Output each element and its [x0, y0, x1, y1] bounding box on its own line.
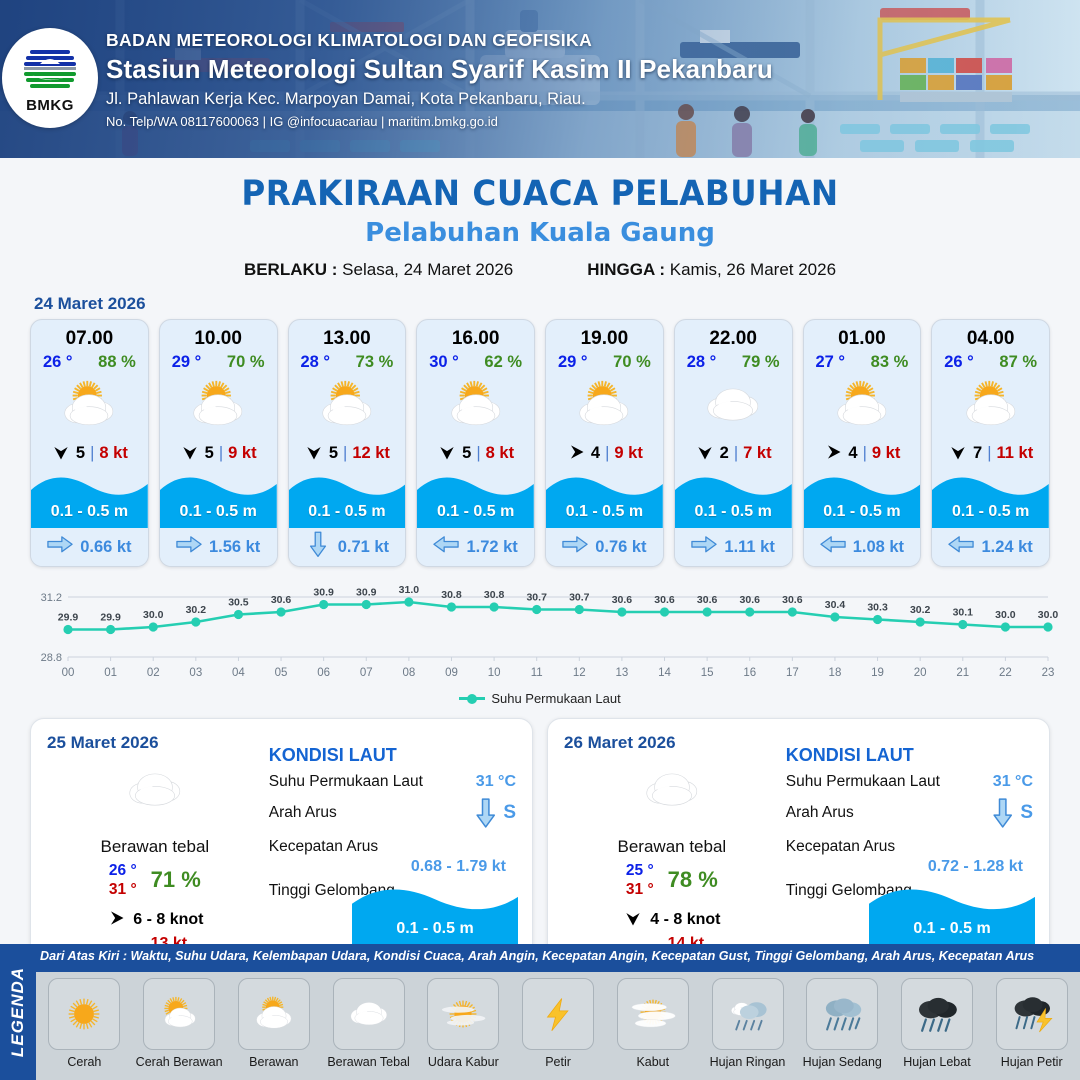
card-weather-icon	[804, 374, 921, 436]
card-wind-direction	[695, 442, 715, 465]
panel-wind: 6 - 8 knot	[47, 908, 263, 933]
svg-text:18: 18	[829, 667, 842, 679]
valid-to-label: HINGGA :	[587, 260, 665, 279]
svg-text:04: 04	[232, 667, 245, 679]
card-wind-direction	[823, 442, 843, 465]
partly-cloudy-icon	[304, 376, 390, 434]
title-section: PRAKIRAAN CUACA PELABUHAN Pelabuhan Kual…	[0, 158, 1080, 280]
daily-panels: 25 Maret 2026 Berawan tebal 26 ° 31 ° 71…	[0, 706, 1080, 958]
card-current-speed: 1.24 kt	[981, 538, 1032, 557]
svg-text:05: 05	[275, 667, 288, 679]
svg-text:12: 12	[573, 667, 586, 679]
svg-text:03: 03	[189, 667, 202, 679]
forecast-card: 13.00 28 ° 73 % 5 | 12 kt 0.1 - 0.5 m 0.…	[288, 319, 407, 567]
wind-direction-arrow	[51, 442, 71, 462]
svg-text:11: 11	[531, 667, 543, 679]
panel-sst-value: 31 °C	[993, 773, 1033, 791]
svg-text:08: 08	[402, 667, 415, 679]
panel-condition: Berawan tebal	[564, 837, 780, 857]
sun-cloud-icon	[148, 987, 210, 1041]
card-wind-direction	[304, 442, 324, 465]
card-divider: |	[863, 444, 867, 463]
panel-current-dir-letter: S	[1020, 802, 1033, 824]
panel-current-speed-value: 0.72 - 1.28 kt	[786, 858, 1033, 876]
card-humidity: 88 %	[98, 353, 136, 372]
card-temp-hum: 26 ° 87 %	[932, 351, 1049, 372]
card-current-speed: 0.71 kt	[338, 538, 389, 557]
panel-current-dir-label: Arah Arus	[786, 804, 854, 822]
legend-item-label: Berawan Tebal	[327, 1055, 409, 1069]
card-temperature: 28 °	[301, 353, 331, 372]
legend-item: Hujan Lebat	[891, 978, 984, 1069]
card-weather-icon	[932, 374, 1049, 436]
card-time: 01.00	[804, 320, 921, 351]
svg-text:07: 07	[360, 667, 373, 679]
partly-cloudy-icon	[433, 376, 519, 434]
legend-note: Dari Atas Kiri : Waktu, Suhu Udara, Kele…	[40, 949, 1076, 963]
card-wave: 0.1 - 0.5 m	[546, 470, 663, 528]
panel-wind-range: 6 - 8 knot	[133, 911, 203, 929]
svg-text:29.9: 29.9	[100, 612, 121, 624]
svg-text:23: 23	[1042, 667, 1055, 679]
panel-current-dir-row: Arah Arus S	[269, 798, 516, 828]
svg-text:06: 06	[317, 667, 330, 679]
current-direction-arrow	[691, 535, 717, 554]
card-current-speed: 1.08 kt	[853, 538, 904, 557]
cloudy-icon	[112, 761, 198, 819]
panel-date: 26 Maret 2026	[564, 733, 780, 753]
card-time: 04.00	[932, 320, 1049, 351]
svg-text:30.6: 30.6	[697, 594, 718, 606]
partly-cloudy-icon	[46, 376, 132, 434]
card-temperature: 30 °	[429, 353, 459, 372]
panel-sst-value: 31 °C	[476, 773, 516, 791]
daily-panel: 25 Maret 2026 Berawan tebal 26 ° 31 ° 71…	[30, 718, 533, 958]
legend-item-label: Petir	[545, 1055, 571, 1069]
card-wind-speed: 5	[205, 444, 214, 463]
panel-sst-label: Suhu Permukaan Laut	[269, 773, 423, 791]
card-time: 19.00	[546, 320, 663, 351]
card-divider: |	[343, 444, 347, 463]
card-divider: |	[476, 444, 480, 463]
legend-item: Udara Kabur	[417, 978, 510, 1069]
card-current: 1.11 kt	[675, 528, 792, 566]
card-time: 07.00	[31, 320, 148, 351]
card-gust: 9 kt	[872, 444, 900, 463]
forecast-card: 01.00 27 ° 83 % 4 | 9 kt 0.1 - 0.5 m 1.0…	[803, 319, 922, 567]
svg-text:09: 09	[445, 667, 458, 679]
card-wind-speed: 5	[76, 444, 85, 463]
forecast-card: 04.00 26 ° 87 % 7 | 11 kt 0.1 - 0.5 m 1.…	[931, 319, 1050, 567]
panel-temp-range: 26 ° 31 °	[109, 861, 137, 900]
panel-current-dir-value: S	[992, 798, 1033, 828]
chart-legend: Suhu Permukaan Laut	[0, 691, 1080, 706]
wind-direction-arrow	[948, 442, 968, 462]
panel-date: 25 Maret 2026	[47, 733, 263, 753]
haze-icon	[432, 987, 494, 1041]
svg-text:30.0: 30.0	[995, 609, 1016, 621]
valid-to-value: Kamis, 26 Maret 2026	[670, 260, 836, 279]
current-direction-arrow	[948, 535, 974, 554]
card-temperature: 28 °	[687, 353, 717, 372]
valid-to: HINGGA : Kamis, 26 Maret 2026	[587, 260, 836, 280]
card-wind-speed: 4	[848, 444, 857, 463]
legend-item-label: Kabut	[636, 1055, 669, 1069]
card-wave: 0.1 - 0.5 m	[31, 470, 148, 528]
card-gust: 9 kt	[228, 444, 256, 463]
panel-humidity: 71 %	[151, 867, 201, 893]
card-current-direction	[948, 535, 974, 559]
svg-text:28.8: 28.8	[41, 652, 62, 664]
legend-item-icon	[48, 978, 120, 1050]
page-header: BMKG BADAN METEOROLOGI KLIMATOLOGI DAN G…	[0, 0, 1080, 158]
card-current-direction	[176, 535, 202, 559]
svg-text:22: 22	[999, 667, 1012, 679]
card-humidity: 83 %	[871, 353, 909, 372]
card-gust: 8 kt	[486, 444, 514, 463]
agency-name: BADAN METEOROLOGI KLIMATOLOGI DAN GEOFIS…	[106, 30, 773, 51]
svg-text:30.0: 30.0	[1038, 609, 1059, 621]
heavy-rain-icon	[906, 987, 968, 1041]
current-direction-arrow	[475, 798, 496, 828]
card-current-direction	[820, 535, 846, 559]
panel-right: KONDISI LAUT Suhu Permukaan Laut 31 °C A…	[263, 733, 516, 943]
card-current: 1.08 kt	[804, 528, 921, 566]
panel-current-dir-letter: S	[503, 802, 516, 824]
legend-strip: LEGENDA Dari Atas Kiri : Waktu, Suhu Uda…	[0, 944, 1080, 1080]
card-humidity: 70 %	[227, 353, 265, 372]
panel-current-speed-row: Kecepatan Arus	[269, 838, 516, 856]
panel-current-dir-row: Arah Arus S	[786, 798, 1033, 828]
card-temp-hum: 27 ° 83 %	[804, 351, 921, 372]
legend-item-label: Cerah Berawan	[136, 1055, 223, 1069]
card-wind-direction	[437, 442, 457, 465]
cloudy-icon	[629, 761, 715, 819]
card-wave-height: 0.1 - 0.5 m	[417, 503, 534, 521]
legend-item-icon	[617, 978, 689, 1050]
panel-left: 25 Maret 2026 Berawan tebal 26 ° 31 ° 71…	[47, 733, 263, 943]
panel-right: KONDISI LAUT Suhu Permukaan Laut 31 °C A…	[780, 733, 1033, 943]
legend-item-icon	[427, 978, 499, 1050]
card-wind-direction	[51, 442, 71, 465]
forecast-card: 19.00 29 ° 70 % 4 | 9 kt 0.1 - 0.5 m 0.7…	[545, 319, 664, 567]
svg-text:16: 16	[743, 667, 756, 679]
fog-icon	[622, 987, 684, 1041]
card-wind: 7 | 11 kt	[932, 436, 1049, 470]
legend-item-label: Hujan Ringan	[710, 1055, 786, 1069]
partly-cloudy-icon	[175, 376, 261, 434]
page-title: PRAKIRAAN CUACA PELABUHAN	[38, 174, 1042, 214]
legend-item-label: Udara Kabur	[428, 1055, 499, 1069]
panel-current-dir-value: S	[475, 798, 516, 828]
panel-wind-direction	[623, 908, 643, 933]
valid-from-value: Selasa, 24 Maret 2026	[342, 260, 513, 279]
partly-cloudy-icon	[243, 987, 305, 1041]
svg-text:30.8: 30.8	[484, 589, 505, 601]
card-divider: |	[987, 444, 991, 463]
svg-text:30.2: 30.2	[186, 604, 207, 616]
svg-text:01: 01	[104, 667, 117, 679]
card-wave-height: 0.1 - 0.5 m	[289, 503, 406, 521]
legend-item-icon	[238, 978, 310, 1050]
card-gust: 12 kt	[352, 444, 390, 463]
card-current-direction	[433, 535, 459, 559]
daily-panel: 26 Maret 2026 Berawan tebal 25 ° 31 ° 78…	[547, 718, 1050, 958]
panel-temp-max: 31 °	[109, 880, 137, 899]
card-wave-height: 0.1 - 0.5 m	[804, 503, 921, 521]
wind-direction-arrow	[437, 442, 457, 462]
bmkg-logo-text: BMKG	[26, 97, 74, 114]
panel-sea-title: KONDISI LAUT	[269, 745, 516, 766]
legend-item: Petir	[512, 978, 605, 1069]
card-temperature: 29 °	[172, 353, 202, 372]
card-time: 10.00	[160, 320, 277, 351]
card-time: 13.00	[289, 320, 406, 351]
svg-text:30.5: 30.5	[228, 597, 249, 609]
thunderstorm-icon	[1001, 987, 1063, 1041]
legend-item: Hujan Ringan	[701, 978, 794, 1069]
legend-item-label: Hujan Lebat	[903, 1055, 970, 1069]
card-weather-icon	[31, 374, 148, 436]
current-direction-arrow	[47, 535, 73, 554]
card-current-direction	[305, 535, 331, 559]
svg-text:31.0: 31.0	[399, 584, 420, 596]
sunny-icon	[53, 987, 115, 1041]
card-weather-icon	[675, 374, 792, 436]
card-wind-speed: 5	[462, 444, 471, 463]
panel-temps: 26 ° 31 ° 71 %	[47, 861, 263, 900]
card-wave-height: 0.1 - 0.5 m	[932, 503, 1049, 521]
legend-item-label: Berawan	[249, 1055, 298, 1069]
station-name: Stasiun Meteorologi Sultan Syarif Kasim …	[106, 54, 773, 85]
card-humidity: 73 %	[356, 353, 394, 372]
card-time: 22.00	[675, 320, 792, 351]
legend-item: Cerah Berawan	[133, 978, 226, 1069]
panel-wind: 4 - 8 knot	[564, 908, 780, 933]
card-wind-speed: 5	[329, 444, 338, 463]
cloudy-icon	[338, 987, 400, 1041]
panel-wind-range: 4 - 8 knot	[650, 911, 720, 929]
valid-from-label: BERLAKU :	[244, 260, 338, 279]
svg-text:19: 19	[871, 667, 884, 679]
wind-direction-arrow	[304, 442, 324, 462]
current-direction-arrow	[308, 532, 327, 558]
forecast-card: 07.00 26 ° 88 % 5 | 8 kt 0.1 - 0.5 m 0.6…	[30, 319, 149, 567]
card-wave-height: 0.1 - 0.5 m	[31, 503, 148, 521]
panel-temp-max: 31 °	[626, 880, 654, 899]
legend-item-label: Hujan Sedang	[803, 1055, 882, 1069]
legend-item: Cerah	[38, 978, 131, 1069]
card-wind-direction	[566, 442, 586, 465]
panel-current-speed-label: Kecepatan Arus	[786, 838, 895, 856]
panel-current-speed-row: Kecepatan Arus	[786, 838, 1033, 856]
card-humidity: 62 %	[484, 353, 522, 372]
valid-from: BERLAKU : Selasa, 24 Maret 2026	[244, 260, 513, 280]
legend-item: Hujan Petir	[985, 978, 1078, 1069]
panel-wave-value: 0.1 - 0.5 m	[869, 920, 1035, 938]
wind-direction-arrow	[566, 442, 586, 462]
legend-item-icon	[333, 978, 405, 1050]
card-current-direction	[47, 535, 73, 559]
card-temp-hum: 28 ° 79 %	[675, 351, 792, 372]
card-wave-height: 0.1 - 0.5 m	[675, 503, 792, 521]
chart-legend-label: Suhu Permukaan Laut	[491, 691, 620, 706]
panel-left: 26 Maret 2026 Berawan tebal 25 ° 31 ° 78…	[564, 733, 780, 943]
card-weather-icon	[289, 374, 406, 436]
legend-side-title-text: LEGENDA	[8, 967, 28, 1057]
card-temp-hum: 26 ° 88 %	[31, 351, 148, 372]
svg-text:30.7: 30.7	[526, 592, 547, 604]
card-wave-height: 0.1 - 0.5 m	[160, 503, 277, 521]
card-temperature: 26 °	[43, 353, 73, 372]
cloudy-icon	[690, 376, 776, 434]
card-current: 1.72 kt	[417, 528, 534, 566]
wind-direction-arrow	[695, 442, 715, 462]
card-wind: 2 | 7 kt	[675, 436, 792, 470]
panel-wave-graphic: 0.1 - 0.5 m	[869, 881, 1035, 947]
card-wind-direction	[180, 442, 200, 465]
wind-direction-arrow	[623, 908, 643, 928]
card-wave: 0.1 - 0.5 m	[417, 470, 534, 528]
card-current-speed: 1.56 kt	[209, 538, 260, 557]
card-gust: 8 kt	[99, 444, 127, 463]
card-weather-icon	[160, 374, 277, 436]
card-current: 1.24 kt	[932, 528, 1049, 566]
legend-item-icon	[712, 978, 784, 1050]
card-humidity: 79 %	[742, 353, 780, 372]
svg-text:21: 21	[956, 667, 969, 679]
card-current: 0.66 kt	[31, 528, 148, 566]
card-current-speed: 0.76 kt	[595, 538, 646, 557]
card-wind: 5 | 9 kt	[160, 436, 277, 470]
card-current: 1.56 kt	[160, 528, 277, 566]
panel-sst-label: Suhu Permukaan Laut	[786, 773, 940, 791]
card-temp-hum: 30 ° 62 %	[417, 351, 534, 372]
card-divider: |	[90, 444, 94, 463]
panel-weather-icon	[564, 759, 780, 821]
current-direction-arrow	[176, 535, 202, 554]
partly-cloudy-icon	[948, 376, 1034, 434]
card-weather-icon	[417, 374, 534, 436]
svg-text:30.7: 30.7	[569, 592, 590, 604]
panel-current-dir-label: Arah Arus	[269, 804, 337, 822]
wind-direction-arrow	[180, 442, 200, 462]
card-wave: 0.1 - 0.5 m	[160, 470, 277, 528]
card-current-speed: 1.11 kt	[724, 538, 774, 557]
card-wave: 0.1 - 0.5 m	[289, 470, 406, 528]
svg-text:30.9: 30.9	[356, 587, 377, 599]
current-direction-arrow	[992, 798, 1013, 828]
card-wind-direction	[948, 442, 968, 465]
legend-item-icon	[143, 978, 215, 1050]
card-humidity: 70 %	[613, 353, 651, 372]
page-subtitle: Pelabuhan Kuala Gaung	[0, 218, 1080, 248]
card-wind: 4 | 9 kt	[804, 436, 921, 470]
wind-direction-arrow	[106, 908, 126, 928]
svg-text:31.2: 31.2	[41, 592, 62, 604]
forecast-day-label: 24 Maret 2026	[34, 294, 1080, 314]
station-contact: No. Telp/WA 08117600063 | IG @infocuacar…	[106, 114, 773, 129]
legend-item-icon	[901, 978, 973, 1050]
sst-chart: 31.228.829.90029.90130.00230.20330.50430…	[20, 579, 1060, 689]
forecast-card: 22.00 28 ° 79 % 2 | 7 kt 0.1 - 0.5 m 1.1…	[674, 319, 793, 567]
panel-weather-icon	[47, 759, 263, 821]
card-temperature: 26 °	[944, 353, 974, 372]
legend-item: Hujan Sedang	[796, 978, 889, 1069]
card-divider: |	[734, 444, 738, 463]
card-temperature: 29 °	[558, 353, 588, 372]
card-temp-hum: 29 ° 70 %	[546, 351, 663, 372]
card-wind: 4 | 9 kt	[546, 436, 663, 470]
panel-temp-min: 26 °	[109, 861, 137, 880]
panel-current-speed-label: Kecepatan Arus	[269, 838, 378, 856]
wind-direction-arrow	[823, 442, 843, 462]
panel-temp-min: 25 °	[626, 861, 654, 880]
partly-cloudy-icon	[561, 376, 647, 434]
panel-current-speed-value: 0.68 - 1.79 kt	[269, 858, 516, 876]
card-wind-speed: 7	[973, 444, 982, 463]
card-wind-speed: 4	[591, 444, 600, 463]
svg-text:30.4: 30.4	[825, 599, 846, 611]
legend-item-label: Cerah	[67, 1055, 101, 1069]
card-gust: 11 kt	[997, 444, 1034, 463]
card-time: 16.00	[417, 320, 534, 351]
card-current: 0.76 kt	[546, 528, 663, 566]
card-wave: 0.1 - 0.5 m	[932, 470, 1049, 528]
moderate-rain-icon	[811, 987, 873, 1041]
svg-text:30.9: 30.9	[313, 587, 334, 599]
card-temp-hum: 29 ° 70 %	[160, 351, 277, 372]
legend-item-label: Hujan Petir	[1001, 1055, 1063, 1069]
card-wind-speed: 2	[720, 444, 729, 463]
current-direction-arrow	[820, 535, 846, 554]
svg-text:02: 02	[147, 667, 160, 679]
svg-text:30.2: 30.2	[910, 604, 931, 616]
card-wind: 5 | 8 kt	[417, 436, 534, 470]
legend-item: Berawan Tebal	[322, 978, 415, 1069]
current-direction-arrow	[562, 535, 588, 554]
current-direction-arrow	[433, 535, 459, 554]
panel-wave-graphic: 0.1 - 0.5 m	[352, 881, 518, 947]
legend-item-icon	[806, 978, 878, 1050]
legend-icon-row: Cerah Cerah Berawan Berawan Berawan Teba…	[36, 972, 1080, 1080]
svg-text:30.6: 30.6	[782, 594, 803, 606]
panel-wind-direction	[106, 908, 126, 933]
header-text-block: BADAN METEOROLOGI KLIMATOLOGI DAN GEOFIS…	[106, 30, 773, 129]
card-wave: 0.1 - 0.5 m	[804, 470, 921, 528]
bmkg-logo-mark	[18, 42, 82, 96]
legend-item: Berawan	[227, 978, 320, 1069]
legend-item: Kabut	[606, 978, 699, 1069]
light-rain-icon	[717, 987, 779, 1041]
card-humidity: 87 %	[999, 353, 1037, 372]
panel-sea-title: KONDISI LAUT	[786, 745, 1033, 766]
svg-text:30.6: 30.6	[654, 594, 675, 606]
forecast-card-row: 07.00 26 ° 88 % 5 | 8 kt 0.1 - 0.5 m 0.6…	[0, 319, 1080, 567]
svg-text:29.9: 29.9	[58, 612, 79, 624]
svg-text:30.6: 30.6	[271, 594, 292, 606]
svg-text:14: 14	[658, 667, 671, 679]
panel-temps: 25 ° 31 ° 78 %	[564, 861, 780, 900]
card-current: 0.71 kt	[289, 528, 406, 566]
forecast-card: 16.00 30 ° 62 % 5 | 8 kt 0.1 - 0.5 m 1.7…	[416, 319, 535, 567]
svg-text:30.6: 30.6	[612, 594, 633, 606]
card-wind: 5 | 12 kt	[289, 436, 406, 470]
legend-side-title: LEGENDA	[0, 944, 36, 1080]
svg-text:17: 17	[786, 667, 799, 679]
card-gust: 9 kt	[614, 444, 642, 463]
partly-cloudy-icon	[819, 376, 905, 434]
